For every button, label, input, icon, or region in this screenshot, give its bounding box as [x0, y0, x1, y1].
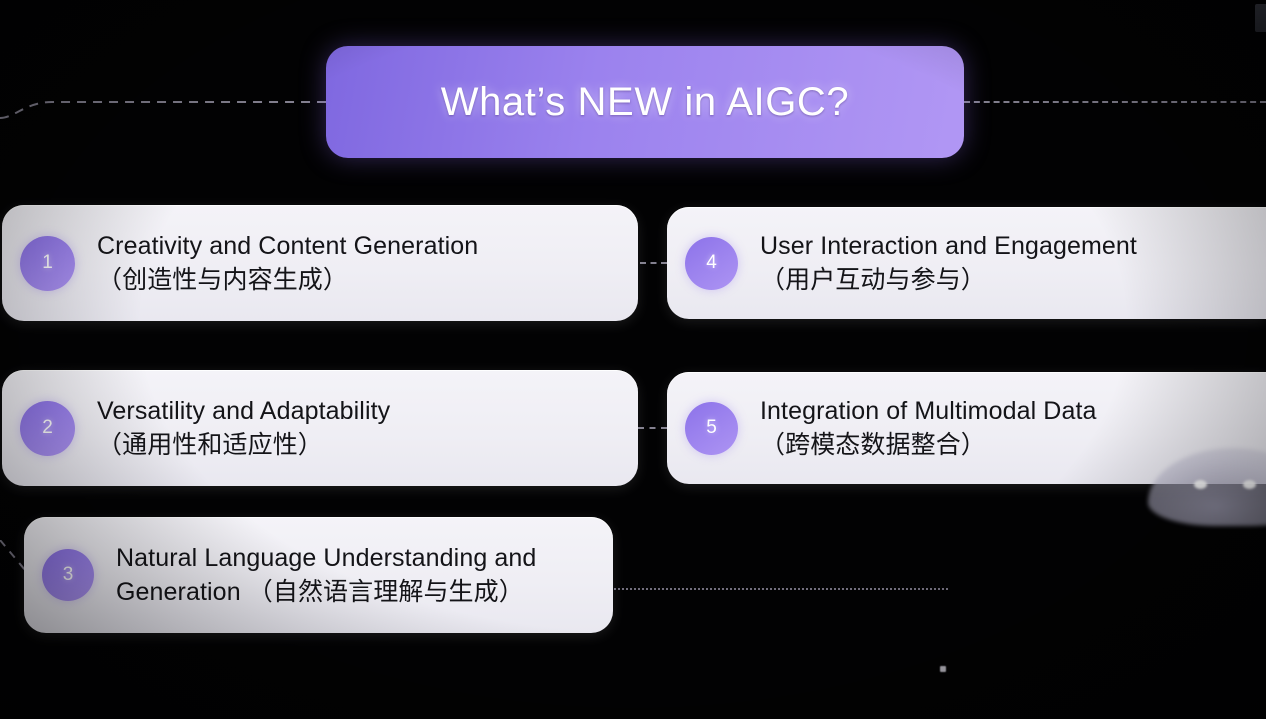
item-label: Versatility and Adaptability （通用性和适应性）	[97, 394, 390, 462]
corner-edge-artifact	[1255, 4, 1266, 32]
connector-left-to-title	[0, 70, 340, 140]
item-number-badge: 5	[685, 402, 738, 455]
item-number-badge: 3	[42, 549, 94, 601]
connector-left-to-card2	[638, 427, 667, 429]
page-title: What’s NEW in AIGC?	[441, 80, 850, 125]
item-number-badge: 4	[685, 237, 738, 290]
item-label: Creativity and Content Generation （创造性与内…	[97, 229, 478, 297]
item-label: Integration of Multimodal Data （跨模态数据整合）	[760, 394, 1097, 462]
slide-canvas: What’s NEW in AIGC? 1 Creativity and Con…	[0, 0, 1266, 719]
list-item-3[interactable]: 3 Natural Language Understanding and Gen…	[24, 517, 613, 633]
list-item-1[interactable]: 1 Creativity and Content Generation （创造性…	[2, 205, 638, 321]
item-number-badge: 1	[20, 236, 75, 291]
item-number-badge: 2	[20, 401, 75, 456]
background-blob-highlight	[1194, 480, 1207, 489]
stray-dot-artifact	[940, 666, 946, 672]
background-blob-highlight	[1243, 480, 1256, 489]
item-label: Natural Language Understanding and Gener…	[116, 541, 536, 609]
list-item-2[interactable]: 2 Versatility and Adaptability （通用性和适应性）	[2, 370, 638, 486]
slide-title-box: What’s NEW in AIGC?	[326, 46, 964, 158]
item-label: User Interaction and Engagement （用户互动与参与…	[760, 229, 1137, 297]
connector-title-to-right	[964, 101, 1266, 103]
connector-card1-to-card4	[640, 262, 667, 264]
list-item-4[interactable]: 4 User Interaction and Engagement （用户互动与…	[667, 207, 1266, 319]
connector-card3-to-right	[614, 588, 948, 590]
